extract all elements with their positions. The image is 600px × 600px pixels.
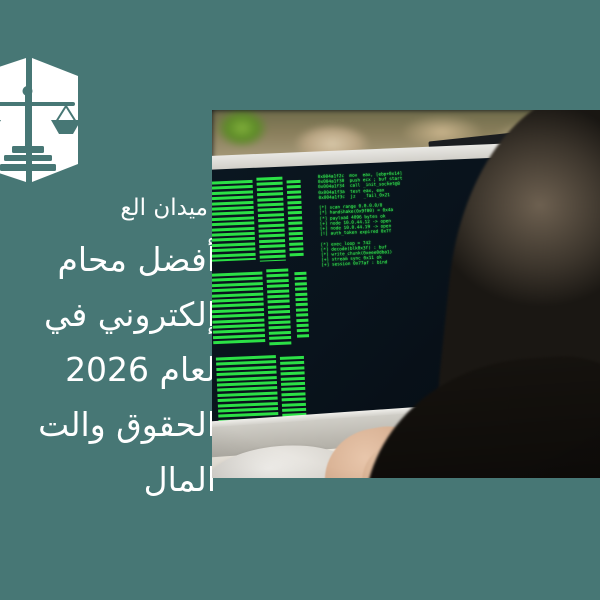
terminal-block xyxy=(216,355,279,421)
scales-of-justice-hexagon-icon xyxy=(0,46,116,196)
brand-name: ميدان الع xyxy=(0,193,208,223)
headline-line-5: المال xyxy=(0,452,216,507)
headline-line-2: إلكتروني في xyxy=(0,287,216,342)
terminal-block xyxy=(212,272,265,346)
terminal-block xyxy=(256,177,285,262)
terminal-block xyxy=(266,268,291,345)
terminal-block xyxy=(294,272,309,338)
terminal-block xyxy=(212,180,256,262)
terminal-block xyxy=(280,356,306,417)
terminal-block xyxy=(287,180,304,257)
headline-line-3: لعام 2026 xyxy=(0,342,216,397)
headline-line-1: أفضل محام xyxy=(0,232,216,287)
hero-photo: <!DOCTYPE html> <html lang="en"> <head> … xyxy=(212,110,600,478)
headline: أفضل محام إلكتروني في لعام 2026 الحقوق و… xyxy=(0,232,216,507)
headline-line-4: الحقوق والت xyxy=(0,397,216,452)
brand-logo xyxy=(0,46,116,196)
social-media-card: ميدان الع أفضل محام إلكتروني في لعام 202… xyxy=(0,0,600,600)
